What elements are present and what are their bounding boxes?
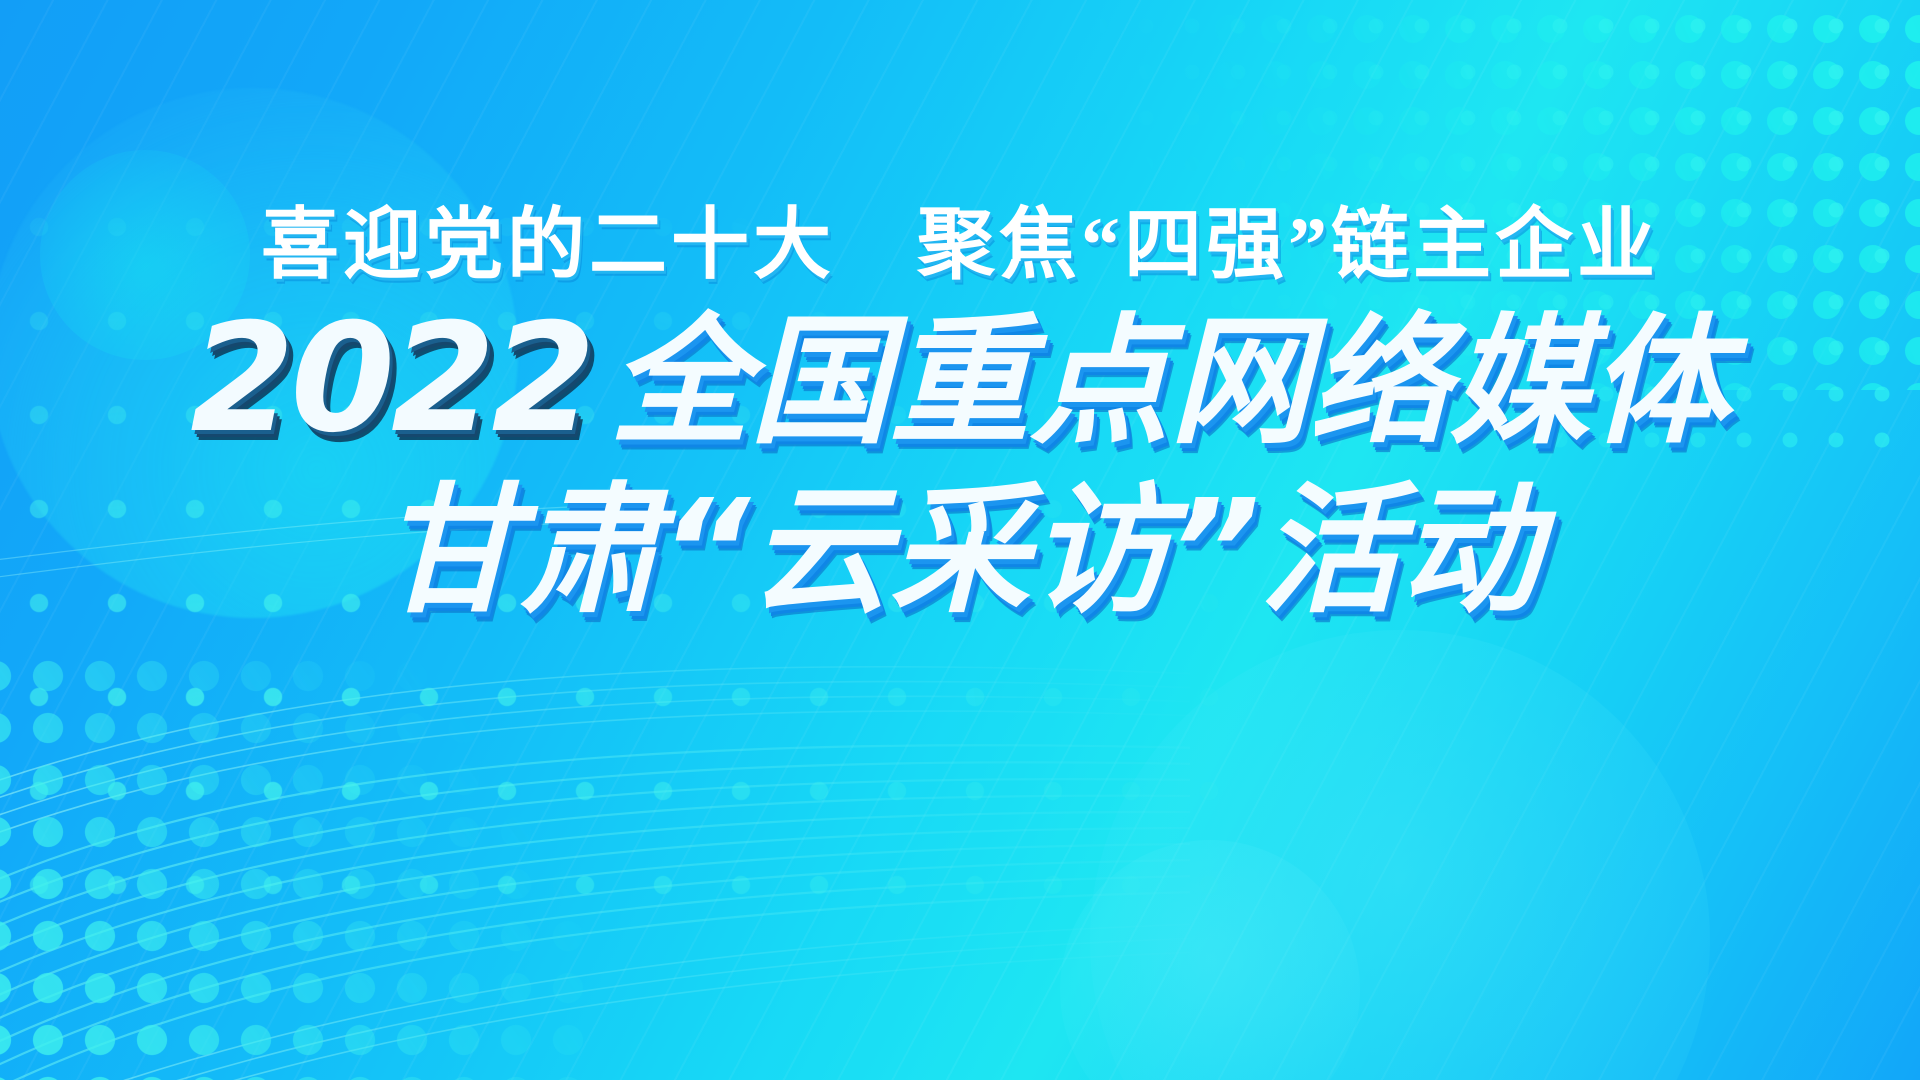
banner-title-line-2: 甘肃“云采访”活动 bbox=[0, 476, 1920, 627]
promo-banner: 喜迎党的二十大 聚焦“四强”链主企业 2022全国重点网络媒体 甘肃“云采访”活… bbox=[0, 0, 1920, 1080]
banner-subtitle: 喜迎党的二十大 聚焦“四强”链主企业 bbox=[0, 206, 1920, 284]
banner-title-year: 2022 bbox=[190, 292, 609, 466]
headline-block: 喜迎党的二十大 聚焦“四强”链主企业 2022全国重点网络媒体 甘肃“云采访”活… bbox=[0, 206, 1920, 627]
banner-title-line-1-text: 全国重点网络媒体 bbox=[610, 301, 1730, 464]
banner-title-line-1: 2022全国重点网络媒体 bbox=[0, 298, 1920, 460]
halftone-dots-bottom-left-decoration bbox=[0, 650, 590, 1080]
